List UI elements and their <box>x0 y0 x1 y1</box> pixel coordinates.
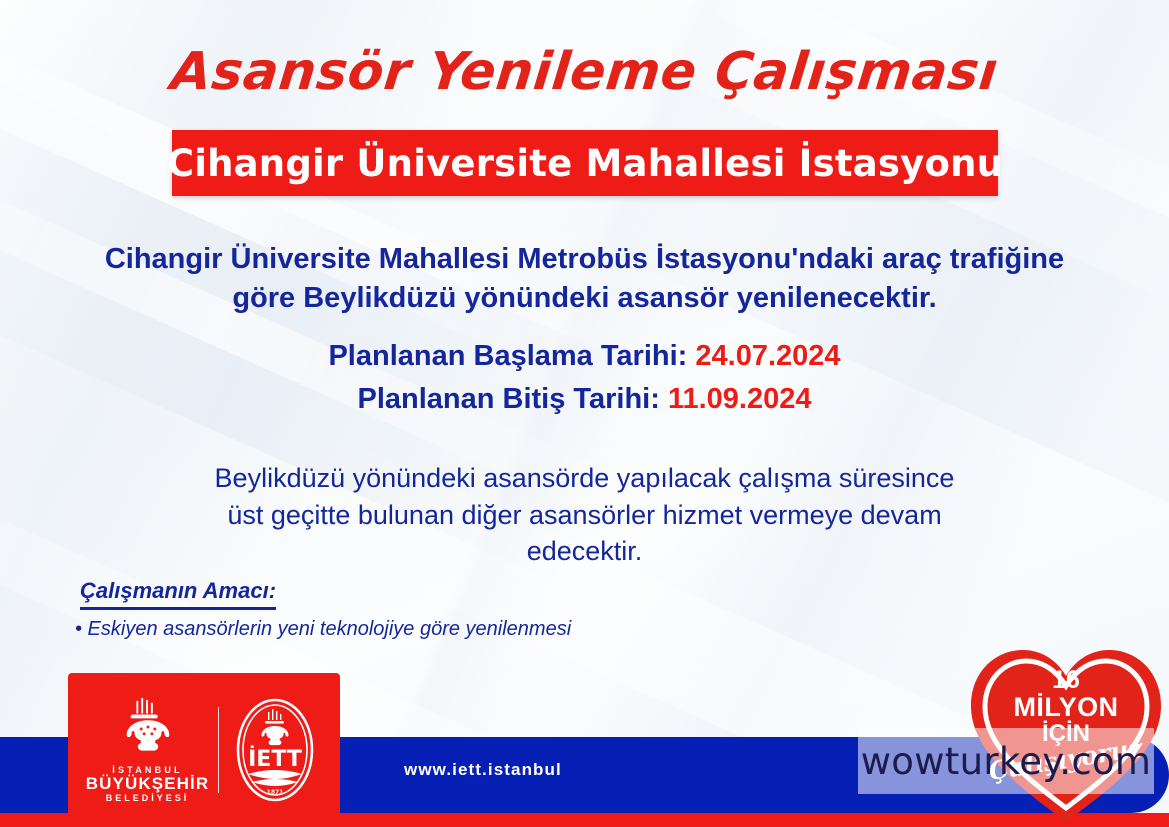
end-date-row: Planlanan Bitiş Tarihi: 11.09.2024 <box>70 378 1099 421</box>
iett-logo: İETT 1871 <box>229 694 321 806</box>
ibb-logo-line-3: BELEDİYESİ <box>106 793 190 803</box>
station-banner-text: Cihangir Üniversite Mahallesi İstasyonu <box>167 142 1003 185</box>
intro-paragraph: Cihangir Üniversite Mahallesi Metrobüs İ… <box>70 240 1099 318</box>
notice-line-2: üst geçitte bulunan diğer asansörler hiz… <box>90 497 1079 534</box>
intro-line-2: göre Beylikdüzü yönündeki asansör yenile… <box>70 279 1099 318</box>
poster-script-title: Asansör Yenileme Çalışması <box>0 42 1169 102</box>
iett-seal-year: 1871 <box>266 789 283 796</box>
tulip-icon <box>117 697 179 759</box>
watermark: wowturkey.com <box>858 728 1154 794</box>
notice-paragraph: Beylikdüzü yönündeki asansörde yapılacak… <box>90 460 1079 570</box>
poster-canvas: Asansör Yenileme Çalışması Cihangir Üniv… <box>0 0 1169 827</box>
footer-url[interactable]: www.iett.istanbul <box>404 760 562 780</box>
iett-seal-icon: İETT 1871 <box>232 694 318 806</box>
purpose-heading: Çalışmanın Amacı: <box>80 578 276 610</box>
intro-line-1: Cihangir Üniversite Mahallesi Metrobüs İ… <box>70 240 1099 279</box>
purpose-bullet-1: • Eskiyen asansörlerin yeni teknolojiye … <box>75 618 571 641</box>
end-date-label: Planlanan Bitiş Tarihi: <box>357 383 659 415</box>
ibb-logo: İSTANBUL BÜYÜKŞEHİR BELEDİYESİ <box>88 697 208 804</box>
footer-blue-band-left-cap <box>0 737 40 813</box>
iett-seal-label: İETT <box>248 746 302 772</box>
dates-block: Planlanan Başlama Tarihi: 24.07.2024 Pla… <box>70 335 1099 421</box>
footer-logo-card: İSTANBUL BÜYÜKŞEHİR BELEDİYESİ İETT <box>68 673 340 827</box>
start-date-label: Planlanan Başlama Tarihi: <box>328 340 687 372</box>
notice-line-3: edecektir. <box>90 533 1079 570</box>
watermark-text: wowturkey.com <box>861 740 1152 783</box>
start-date-row: Planlanan Başlama Tarihi: 24.07.2024 <box>70 335 1099 378</box>
notice-line-1: Beylikdüzü yönündeki asansörde yapılacak… <box>90 460 1079 497</box>
start-date-value: 24.07.2024 <box>695 340 840 372</box>
ibb-logo-line-2: BÜYÜKŞEHİR <box>86 775 209 794</box>
logo-divider <box>218 707 219 793</box>
station-banner: Cihangir Üniversite Mahallesi İstasyonu <box>172 130 998 196</box>
end-date-value: 11.09.2024 <box>668 383 812 415</box>
